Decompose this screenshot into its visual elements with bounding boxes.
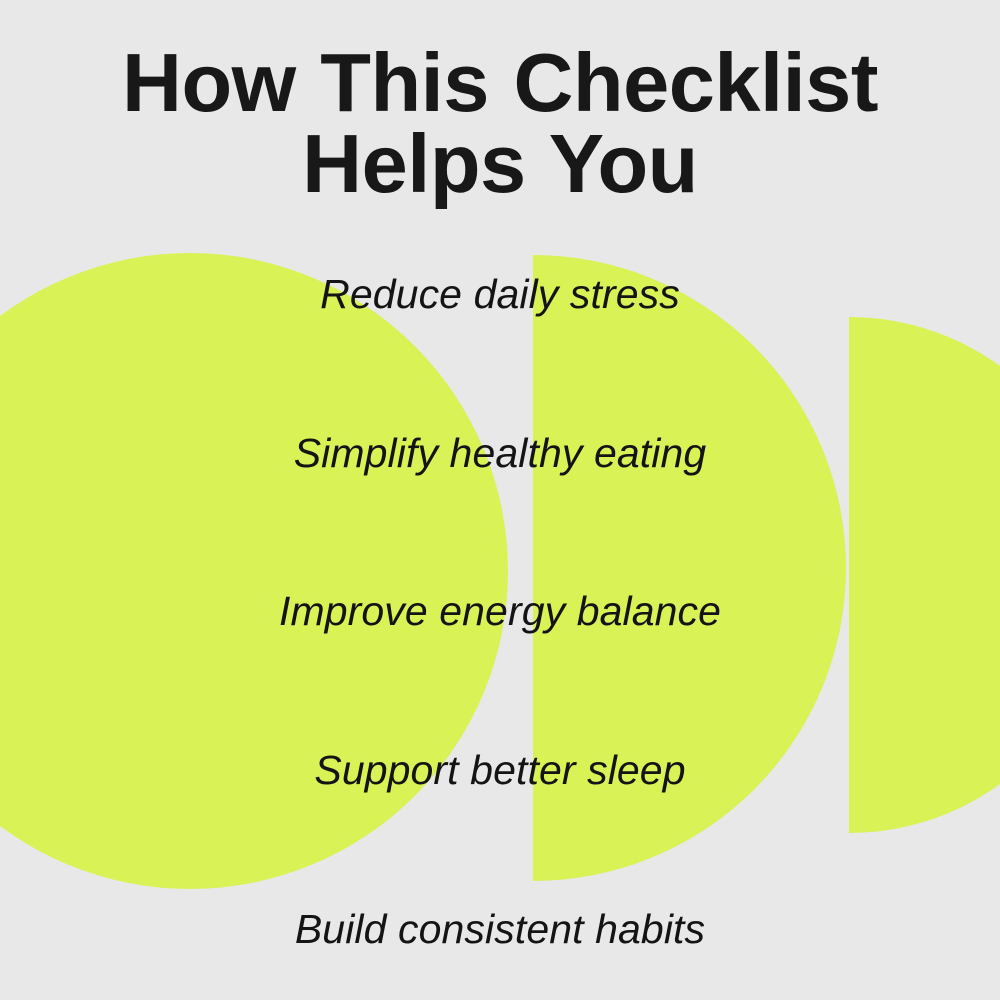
page-title-text: How This ChecklistHelps You <box>40 42 960 205</box>
list-item: Improve energy balance <box>0 589 1000 634</box>
list-item: Build consistent habits <box>0 907 1000 952</box>
poster-canvas: How This ChecklistHelps You Reduce daily… <box>0 0 1000 1000</box>
list-item: Support better sleep <box>0 748 1000 793</box>
page-title: How This ChecklistHelps You <box>0 42 1000 205</box>
list-item: Reduce daily stress <box>0 272 1000 317</box>
page-title-line-2: Helps You <box>302 117 698 210</box>
list-item: Simplify healthy eating <box>0 431 1000 476</box>
benefit-list: Reduce daily stress Simplify healthy eat… <box>0 272 1000 952</box>
page-title-line-1: How This Checklist <box>122 36 878 129</box>
